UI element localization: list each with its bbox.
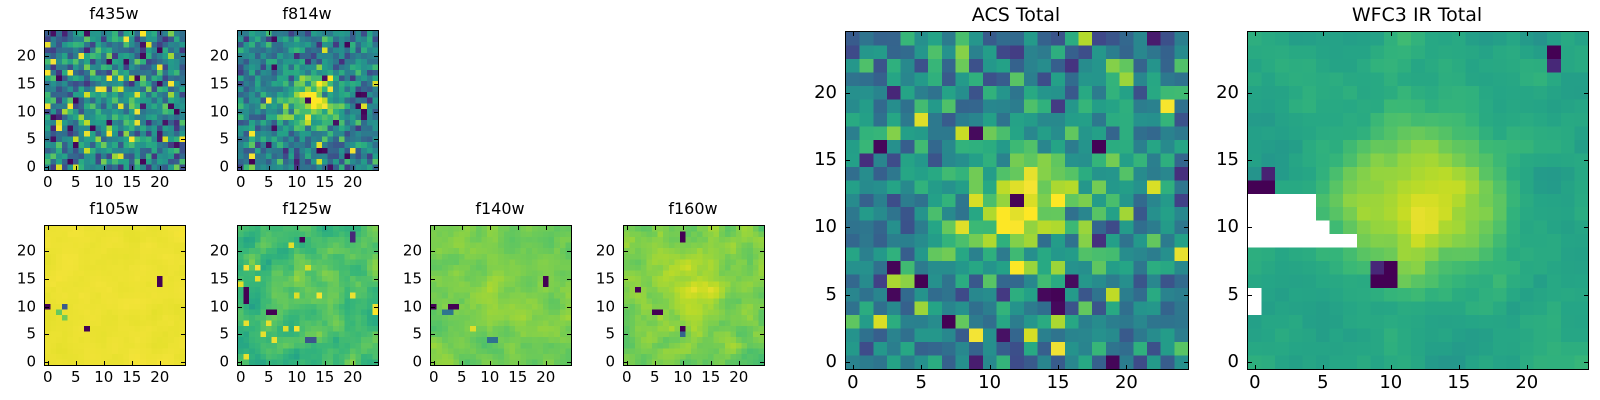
yticklabel-f160w-2: 10 xyxy=(569,299,615,314)
yticklabel-f814w-0: 0 xyxy=(183,160,229,175)
xticklabel-f435w-0: 0 xyxy=(43,175,53,190)
xtick-acs_total-2 xyxy=(990,365,991,369)
ytick-right-wfc3_ir_total-1 xyxy=(1584,295,1588,296)
yticklabel-f160w-1: 5 xyxy=(569,327,615,342)
xtick-f105w-1 xyxy=(76,361,77,365)
xtick-f435w-3 xyxy=(132,166,133,170)
xtick-wfc3_ir_total-1 xyxy=(1323,365,1324,369)
xticklabel-f140w-3: 15 xyxy=(508,370,527,385)
ytick-right-f814w-4 xyxy=(374,56,378,57)
ytick-wfc3_ir_total-4 xyxy=(1248,93,1252,94)
yticklabel-acs_total-2: 10 xyxy=(791,218,837,236)
xtick-acs_total-1 xyxy=(921,365,922,369)
xticklabel-f105w-4: 20 xyxy=(150,370,169,385)
xticklabel-f105w-1: 5 xyxy=(71,370,81,385)
xtick-acs_total-3 xyxy=(1058,365,1059,369)
ytick-f160w-4 xyxy=(624,251,628,252)
xticklabel-acs_total-0: 0 xyxy=(847,374,858,392)
xticklabel-f105w-2: 10 xyxy=(94,370,113,385)
xtick-f140w-3 xyxy=(518,361,519,365)
yticklabel-f125w-3: 15 xyxy=(183,271,229,286)
panel-title-f125w: f125w xyxy=(237,201,377,217)
xtick-top-f814w-4 xyxy=(353,31,354,35)
ytick-f125w-2 xyxy=(238,307,242,308)
xtick-f125w-3 xyxy=(325,361,326,365)
ytick-wfc3_ir_total-3 xyxy=(1248,160,1252,161)
ytick-f105w-0 xyxy=(45,362,49,363)
xtick-top-acs_total-2 xyxy=(990,32,991,36)
yticklabel-f105w-1: 5 xyxy=(0,327,36,342)
yticklabel-f814w-4: 20 xyxy=(183,49,229,64)
xtick-top-f160w-1 xyxy=(655,226,656,230)
panel-title-f814w: f814w xyxy=(237,6,377,22)
xtick-top-acs_total-3 xyxy=(1058,32,1059,36)
ytick-f435w-2 xyxy=(45,112,49,113)
xtick-top-wfc3_ir_total-1 xyxy=(1323,32,1324,36)
xtick-top-acs_total-0 xyxy=(853,32,854,36)
ytick-acs_total-0 xyxy=(846,362,850,363)
yticklabel-wfc3_ir_total-4: 20 xyxy=(1193,84,1239,102)
xtick-f814w-1 xyxy=(269,166,270,170)
xtick-top-f814w-0 xyxy=(241,31,242,35)
heatmap-canvas-f105w xyxy=(45,226,185,365)
xtick-top-f814w-1 xyxy=(269,31,270,35)
xtick-f814w-4 xyxy=(353,166,354,170)
xtick-f160w-3 xyxy=(711,361,712,365)
xtick-f105w-4 xyxy=(160,361,161,365)
xticklabel-f140w-0: 0 xyxy=(429,370,439,385)
ytick-right-acs_total-0 xyxy=(1184,362,1188,363)
ytick-right-f814w-3 xyxy=(374,84,378,85)
ytick-f140w-1 xyxy=(431,334,435,335)
xtick-f125w-1 xyxy=(269,361,270,365)
ytick-f814w-4 xyxy=(238,56,242,57)
xticklabel-f140w-4: 20 xyxy=(536,370,555,385)
xtick-top-f105w-1 xyxy=(76,226,77,230)
xtick-top-wfc3_ir_total-4 xyxy=(1527,32,1528,36)
yticklabel-f105w-3: 15 xyxy=(0,271,36,286)
xticklabel-acs_total-1: 5 xyxy=(916,374,927,392)
ytick-right-wfc3_ir_total-3 xyxy=(1584,160,1588,161)
ytick-right-f814w-1 xyxy=(374,139,378,140)
xtick-top-f435w-1 xyxy=(76,31,77,35)
ytick-f160w-3 xyxy=(624,279,628,280)
ytick-f814w-2 xyxy=(238,112,242,113)
xtick-top-wfc3_ir_total-3 xyxy=(1459,32,1460,36)
yticklabel-f160w-3: 15 xyxy=(569,271,615,286)
xticklabel-acs_total-3: 15 xyxy=(1047,374,1070,392)
xtick-f140w-2 xyxy=(490,361,491,365)
ytick-wfc3_ir_total-0 xyxy=(1248,362,1252,363)
xtick-f160w-1 xyxy=(655,361,656,365)
yticklabel-f160w-4: 20 xyxy=(569,244,615,259)
ytick-f105w-4 xyxy=(45,251,49,252)
xticklabel-f814w-2: 10 xyxy=(287,175,306,190)
xtick-top-acs_total-4 xyxy=(1126,32,1127,36)
heatmap-canvas-f160w xyxy=(624,226,764,365)
axes-wfc3_ir_total xyxy=(1247,31,1589,370)
xticklabel-f160w-1: 5 xyxy=(650,370,660,385)
yticklabel-f140w-4: 20 xyxy=(376,244,422,259)
figure-canvas: f435w0510152005101520f814w05101520051015… xyxy=(0,0,1600,400)
xtick-top-f814w-3 xyxy=(325,31,326,35)
yticklabel-f140w-0: 0 xyxy=(376,355,422,370)
yticklabel-f435w-4: 20 xyxy=(0,49,36,64)
ytick-f160w-1 xyxy=(624,334,628,335)
xticklabel-f814w-4: 20 xyxy=(343,175,362,190)
xtick-top-f814w-2 xyxy=(297,31,298,35)
xtick-top-f105w-3 xyxy=(132,226,133,230)
xtick-f105w-3 xyxy=(132,361,133,365)
ytick-f814w-1 xyxy=(238,139,242,140)
panel-title-f105w: f105w xyxy=(44,201,184,217)
ytick-acs_total-2 xyxy=(846,227,850,228)
ytick-acs_total-3 xyxy=(846,160,850,161)
xtick-top-acs_total-1 xyxy=(921,32,922,36)
xticklabel-wfc3_ir_total-1: 5 xyxy=(1317,374,1328,392)
axes-f160w xyxy=(623,225,765,366)
heatmap-canvas-f814w xyxy=(238,31,378,170)
xticklabel-f814w-0: 0 xyxy=(236,175,246,190)
heatmap-canvas-wfc3_ir_total xyxy=(1248,32,1588,369)
xtick-top-f160w-0 xyxy=(627,226,628,230)
xtick-wfc3_ir_total-4 xyxy=(1527,365,1528,369)
heatmap-canvas-f125w xyxy=(238,226,378,365)
xtick-wfc3_ir_total-2 xyxy=(1391,365,1392,369)
panel-title-f435w: f435w xyxy=(44,6,184,22)
yticklabel-f814w-3: 15 xyxy=(183,76,229,91)
xtick-f814w-3 xyxy=(325,166,326,170)
xticklabel-f125w-3: 15 xyxy=(315,370,334,385)
xticklabel-f125w-2: 10 xyxy=(287,370,306,385)
xtick-f140w-4 xyxy=(546,361,547,365)
xtick-top-f125w-1 xyxy=(269,226,270,230)
xticklabel-f105w-3: 15 xyxy=(122,370,141,385)
yticklabel-acs_total-0: 0 xyxy=(791,353,837,371)
ytick-right-f814w-0 xyxy=(374,167,378,168)
xticklabel-f435w-3: 15 xyxy=(122,175,141,190)
xtick-top-f125w-4 xyxy=(353,226,354,230)
xtick-top-f435w-0 xyxy=(48,31,49,35)
panel-title-acs_total: ACS Total xyxy=(845,6,1187,25)
xtick-top-f140w-3 xyxy=(518,226,519,230)
ytick-wfc3_ir_total-2 xyxy=(1248,227,1252,228)
xticklabel-f105w-0: 0 xyxy=(43,370,53,385)
xtick-f435w-4 xyxy=(160,166,161,170)
xticklabel-f435w-4: 20 xyxy=(150,175,169,190)
axes-acs_total xyxy=(845,31,1189,370)
xtick-f125w-2 xyxy=(297,361,298,365)
xtick-top-f140w-1 xyxy=(462,226,463,230)
yticklabel-f105w-0: 0 xyxy=(0,355,36,370)
yticklabel-acs_total-4: 20 xyxy=(791,84,837,102)
yticklabel-f435w-2: 10 xyxy=(0,104,36,119)
ytick-right-f160w-4 xyxy=(760,251,764,252)
xticklabel-wfc3_ir_total-2: 10 xyxy=(1379,374,1402,392)
ytick-right-f160w-1 xyxy=(760,334,764,335)
xtick-top-f160w-3 xyxy=(711,226,712,230)
xtick-top-f160w-2 xyxy=(683,226,684,230)
xtick-acs_total-4 xyxy=(1126,365,1127,369)
xtick-top-f125w-3 xyxy=(325,226,326,230)
xtick-top-wfc3_ir_total-2 xyxy=(1391,32,1392,36)
yticklabel-f105w-2: 10 xyxy=(0,299,36,314)
yticklabel-acs_total-1: 5 xyxy=(791,286,837,304)
xticklabel-f814w-3: 15 xyxy=(315,175,334,190)
yticklabel-f814w-1: 5 xyxy=(183,132,229,147)
xticklabel-f435w-2: 10 xyxy=(94,175,113,190)
yticklabel-f125w-2: 10 xyxy=(183,299,229,314)
xtick-top-f160w-4 xyxy=(739,226,740,230)
ytick-right-wfc3_ir_total-2 xyxy=(1584,227,1588,228)
axes-f125w xyxy=(237,225,379,366)
ytick-f814w-3 xyxy=(238,84,242,85)
ytick-right-f160w-0 xyxy=(760,362,764,363)
heatmap-canvas-f140w xyxy=(431,226,571,365)
xtick-top-f140w-4 xyxy=(546,226,547,230)
xtick-wfc3_ir_total-3 xyxy=(1459,365,1460,369)
xticklabel-f435w-1: 5 xyxy=(71,175,81,190)
heatmap-canvas-f435w xyxy=(45,31,185,170)
ytick-f435w-4 xyxy=(45,56,49,57)
ytick-f435w-1 xyxy=(45,139,49,140)
yticklabel-f105w-4: 20 xyxy=(0,244,36,259)
xticklabel-f125w-0: 0 xyxy=(236,370,246,385)
xtick-top-f140w-2 xyxy=(490,226,491,230)
yticklabel-f125w-4: 20 xyxy=(183,244,229,259)
ytick-f160w-0 xyxy=(624,362,628,363)
ytick-right-acs_total-1 xyxy=(1184,295,1188,296)
ytick-f435w-0 xyxy=(45,167,49,168)
ytick-f140w-4 xyxy=(431,251,435,252)
ytick-f140w-2 xyxy=(431,307,435,308)
ytick-right-acs_total-2 xyxy=(1184,227,1188,228)
ytick-f814w-0 xyxy=(238,167,242,168)
xtick-f140w-1 xyxy=(462,361,463,365)
ytick-right-wfc3_ir_total-4 xyxy=(1584,93,1588,94)
ytick-f140w-3 xyxy=(431,279,435,280)
xticklabel-f160w-2: 10 xyxy=(673,370,692,385)
yticklabel-f140w-2: 10 xyxy=(376,299,422,314)
yticklabel-f160w-0: 0 xyxy=(569,355,615,370)
ytick-f105w-3 xyxy=(45,279,49,280)
xticklabel-wfc3_ir_total-0: 0 xyxy=(1249,374,1260,392)
xtick-top-f140w-0 xyxy=(434,226,435,230)
ytick-f125w-1 xyxy=(238,334,242,335)
xtick-f160w-4 xyxy=(739,361,740,365)
yticklabel-f435w-0: 0 xyxy=(0,160,36,175)
ytick-f435w-3 xyxy=(45,84,49,85)
xtick-f105w-2 xyxy=(104,361,105,365)
ytick-f125w-0 xyxy=(238,362,242,363)
yticklabel-wfc3_ir_total-2: 10 xyxy=(1193,218,1239,236)
xtick-f125w-4 xyxy=(353,361,354,365)
heatmap-canvas-acs_total xyxy=(846,32,1188,369)
ytick-acs_total-1 xyxy=(846,295,850,296)
ytick-f140w-0 xyxy=(431,362,435,363)
xticklabel-f160w-4: 20 xyxy=(729,370,748,385)
yticklabel-f125w-1: 5 xyxy=(183,327,229,342)
xticklabel-acs_total-4: 20 xyxy=(1115,374,1138,392)
xtick-wfc3_ir_total-0 xyxy=(1255,365,1256,369)
xtick-top-f105w-2 xyxy=(104,226,105,230)
ytick-wfc3_ir_total-1 xyxy=(1248,295,1252,296)
axes-f814w xyxy=(237,30,379,171)
ytick-right-acs_total-4 xyxy=(1184,93,1188,94)
ytick-right-wfc3_ir_total-0 xyxy=(1584,362,1588,363)
xticklabel-f814w-1: 5 xyxy=(264,175,274,190)
axes-f140w xyxy=(430,225,572,366)
xtick-f160w-2 xyxy=(683,361,684,365)
panel-title-wfc3_ir_total: WFC3 IR Total xyxy=(1247,6,1587,25)
xtick-top-f435w-3 xyxy=(132,31,133,35)
yticklabel-f125w-0: 0 xyxy=(183,355,229,370)
xticklabel-wfc3_ir_total-3: 15 xyxy=(1447,374,1470,392)
xtick-top-f435w-4 xyxy=(160,31,161,35)
panel-title-f140w: f140w xyxy=(430,201,570,217)
xticklabel-f125w-4: 20 xyxy=(343,370,362,385)
axes-f435w xyxy=(44,30,186,171)
ytick-f105w-2 xyxy=(45,307,49,308)
xtick-top-wfc3_ir_total-0 xyxy=(1255,32,1256,36)
xticklabel-f140w-2: 10 xyxy=(480,370,499,385)
panel-title-f160w: f160w xyxy=(623,201,763,217)
ytick-f160w-2 xyxy=(624,307,628,308)
xticklabel-f140w-1: 5 xyxy=(457,370,467,385)
ytick-right-f814w-2 xyxy=(374,112,378,113)
xticklabel-f125w-1: 5 xyxy=(264,370,274,385)
yticklabel-f814w-2: 10 xyxy=(183,104,229,119)
xticklabel-acs_total-2: 10 xyxy=(978,374,1001,392)
ytick-f125w-3 xyxy=(238,279,242,280)
xtick-top-f125w-0 xyxy=(241,226,242,230)
xtick-top-f125w-2 xyxy=(297,226,298,230)
xtick-f814w-2 xyxy=(297,166,298,170)
xticklabel-f160w-0: 0 xyxy=(622,370,632,385)
xtick-f435w-1 xyxy=(76,166,77,170)
xticklabel-wfc3_ir_total-4: 20 xyxy=(1515,374,1538,392)
ytick-acs_total-4 xyxy=(846,93,850,94)
yticklabel-f140w-1: 5 xyxy=(376,327,422,342)
yticklabel-f435w-3: 15 xyxy=(0,76,36,91)
ytick-right-f160w-3 xyxy=(760,279,764,280)
yticklabel-f435w-1: 5 xyxy=(0,132,36,147)
ytick-right-acs_total-3 xyxy=(1184,160,1188,161)
xticklabel-f160w-3: 15 xyxy=(701,370,720,385)
xtick-top-f435w-2 xyxy=(104,31,105,35)
ytick-f125w-4 xyxy=(238,251,242,252)
xtick-top-f105w-4 xyxy=(160,226,161,230)
yticklabel-wfc3_ir_total-1: 5 xyxy=(1193,286,1239,304)
yticklabel-f140w-3: 15 xyxy=(376,271,422,286)
xtick-acs_total-0 xyxy=(853,365,854,369)
axes-f105w xyxy=(44,225,186,366)
xtick-top-f105w-0 xyxy=(48,226,49,230)
yticklabel-wfc3_ir_total-0: 0 xyxy=(1193,353,1239,371)
yticklabel-wfc3_ir_total-3: 15 xyxy=(1193,151,1239,169)
yticklabel-acs_total-3: 15 xyxy=(791,151,837,169)
xtick-f435w-2 xyxy=(104,166,105,170)
ytick-right-f160w-2 xyxy=(760,307,764,308)
ytick-f105w-1 xyxy=(45,334,49,335)
